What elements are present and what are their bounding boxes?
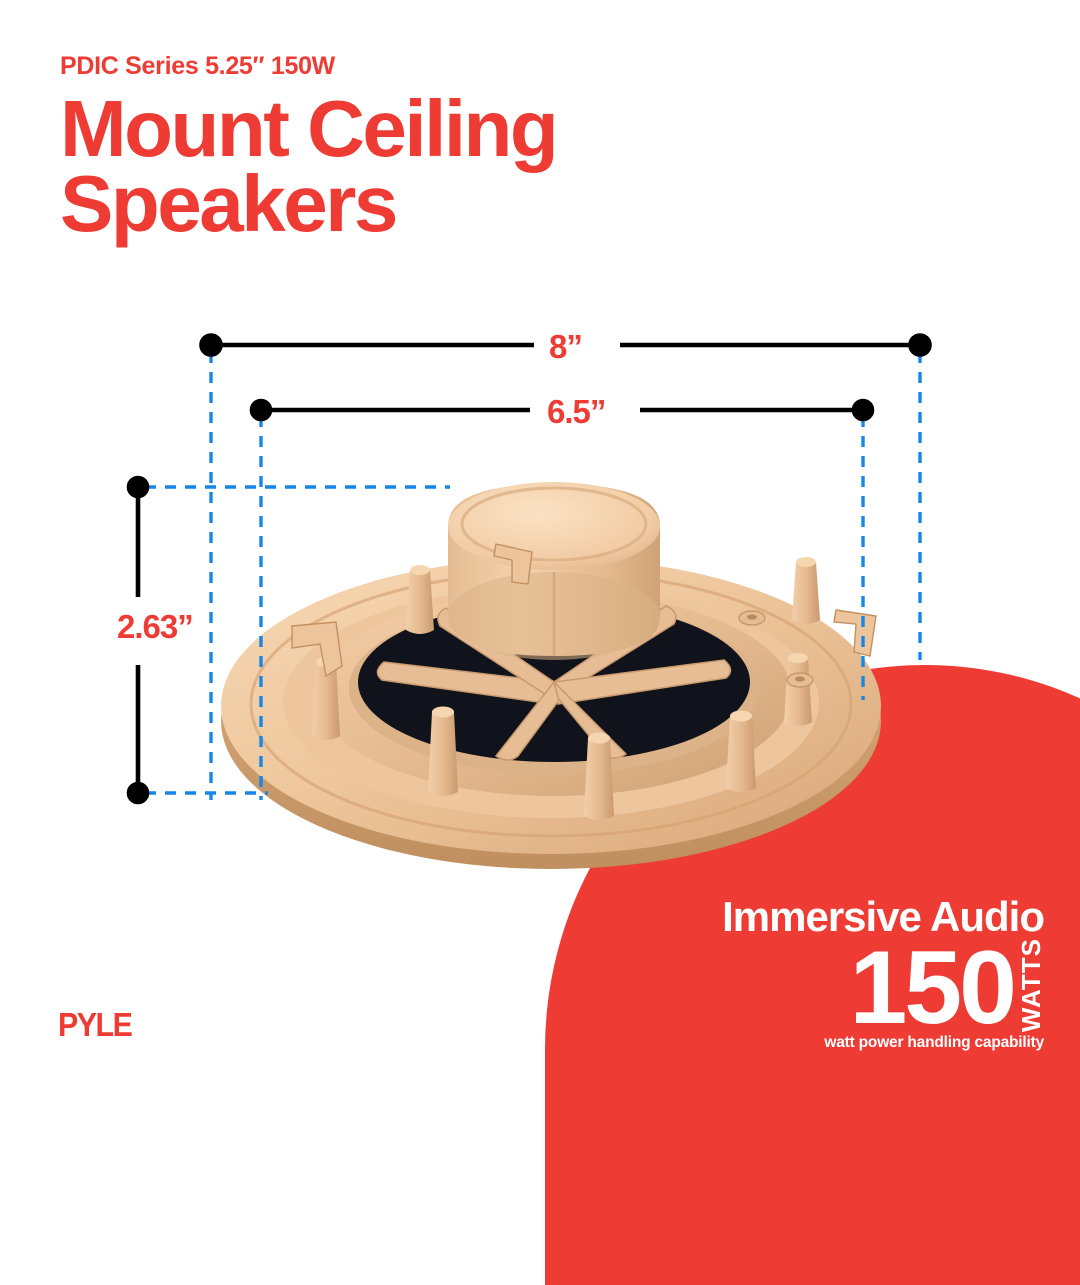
- dimension-label-depth: 2.63”: [108, 608, 202, 646]
- brand-logo: PYLE: [58, 1006, 131, 1044]
- badge-wattage-number: 150: [849, 944, 1014, 1032]
- speaker-illustration: [196, 466, 936, 896]
- badge-wattage-unit: WATTS: [1018, 934, 1044, 1032]
- dimension-label-inner-width: 6.5”: [538, 393, 614, 431]
- page-title: Mount Ceiling Speakers: [60, 91, 556, 241]
- product-image-in-ceiling-speaker: [196, 466, 936, 896]
- badge-power-row: 150 WATTS: [722, 934, 1044, 1032]
- dimension-label-outer-width: 8”: [540, 328, 591, 366]
- product-series-label: PDIC Series 5.25″ 150W: [60, 52, 556, 81]
- power-badge: Immersive Audio 150 WATTS watt power han…: [722, 896, 1044, 1052]
- badge-caption: watt power handling capability: [722, 1034, 1044, 1052]
- page-header: PDIC Series 5.25″ 150W Mount Ceiling Spe…: [60, 52, 556, 241]
